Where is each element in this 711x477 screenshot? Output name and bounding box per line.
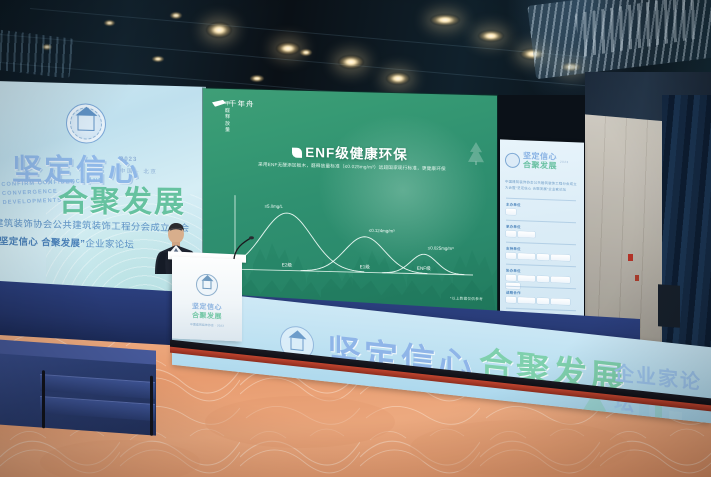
- rollup-divider: [506, 308, 576, 311]
- sponsor-logo: [518, 275, 535, 282]
- sponsor-logo: [537, 298, 549, 304]
- sponsor-logo: [518, 253, 535, 260]
- rollup-logo-row: [506, 231, 578, 240]
- boat-icon: [212, 100, 226, 107]
- microphone-icon: [232, 236, 254, 260]
- wall-fixture: [628, 254, 633, 261]
- rollup-divider: [506, 220, 576, 223]
- rollup-divider: [506, 264, 576, 267]
- screen-footnote-1: *以上数据仅供参考: [450, 296, 483, 302]
- rollup-sponsor-sections: 主办单位承办单位支持单位协办单位战略合作媒体支持: [500, 139, 584, 142]
- sponsor-logo: [551, 254, 570, 261]
- rollup-section: 主办单位: [506, 202, 578, 218]
- sponsor-logo: [551, 276, 570, 283]
- stage-steps: [40, 374, 155, 440]
- sponsor-logo: [506, 209, 516, 215]
- svg-text:≤5.0mg/L: ≤5.0mg/L: [265, 204, 284, 209]
- rollup-section: 支持单位: [506, 246, 578, 262]
- banner-year: 2023: [120, 156, 137, 162]
- rollup-title-line2: 合聚发展: [523, 160, 557, 170]
- svg-text:E1级: E1级: [360, 263, 371, 270]
- banner-title-line2: 合聚发展: [58, 176, 186, 221]
- banner-location: 中国 · 北京: [120, 166, 157, 175]
- sponsor-logo: [537, 254, 549, 260]
- rollup-section: 战略合作: [506, 290, 578, 306]
- sponsor-logo: [506, 231, 516, 237]
- sponsor-logo: [537, 276, 549, 282]
- ceiling-light: [152, 56, 164, 62]
- formaldehyde-curve-chart: ≤5.0mg/LE2级≤0.124mg/m³E1级≤0.025mg/m³ENF级: [227, 189, 477, 287]
- step-rail: [150, 376, 153, 436]
- rollup-year: 2023: [560, 160, 569, 164]
- cbda-emblem-icon: [505, 152, 520, 168]
- chart-y-axis-label: 甲醛释放量: [225, 101, 234, 134]
- wall-fixture: [635, 275, 639, 281]
- ceiling-light: [386, 72, 410, 85]
- floor-speaker: [658, 284, 680, 328]
- presentation-screen: 千年舟 ENF级健康环保 采用ENF无醛添加板木，醛释放量标准（≤0.025mg…: [203, 88, 497, 320]
- banner-subtitle-quote: “坚定信心 合聚发展”: [0, 235, 85, 249]
- rollup-section: 承办单位: [506, 224, 578, 240]
- stage-step: [40, 396, 155, 421]
- ceiling-light: [104, 20, 115, 26]
- ceiling-light: [276, 42, 300, 55]
- ceiling-light: [338, 55, 364, 69]
- svg-text:≤0.124mg/m³: ≤0.124mg/m³: [369, 228, 395, 234]
- rollup-header: 坚定信心 合聚发展 2023: [505, 151, 569, 171]
- rollup-logo-row: [506, 297, 578, 306]
- podium: 坚定信心 合聚发展 中国建筑装饰协会 · 2023: [172, 256, 242, 341]
- chart-svg: ≤5.0mg/LE2级≤0.124mg/m³E1级≤0.025mg/m³ENF级: [227, 189, 477, 287]
- rollup-divider: [506, 242, 576, 245]
- rollup-logo-row: [506, 253, 578, 262]
- sponsor-logo: [518, 231, 535, 238]
- svg-text:ENF级: ENF级: [417, 265, 431, 272]
- sponsor-logo: [506, 275, 516, 281]
- ceiling-light: [206, 22, 232, 38]
- ceiling-light: [170, 12, 182, 19]
- sponsor-logo: [551, 298, 570, 305]
- ceiling-light: [250, 75, 264, 82]
- svg-text:E2级: E2级: [282, 261, 293, 268]
- rollup-divider: [506, 198, 576, 201]
- sponsor-logo: [506, 253, 516, 259]
- ceiling-light: [300, 49, 312, 56]
- leaf-icon: [292, 148, 302, 158]
- podium-subtitle: 中国建筑装饰协会 · 2023: [190, 322, 224, 327]
- screen-title-text: ENF级健康环保: [305, 145, 408, 163]
- ceiling-light: [478, 30, 504, 42]
- sponsor-logo: [506, 297, 516, 303]
- curtain-right: [662, 95, 711, 380]
- ceiling-light: [430, 14, 460, 26]
- lighting-truss-left: [0, 29, 74, 78]
- cbda-emblem-icon: [196, 274, 218, 297]
- step-rail: [42, 370, 45, 428]
- conference-hall-photo: 坚定信心 2023 中国 · 北京 CONFIRM CONFIDENCE AND…: [0, 0, 711, 477]
- rollup-logo-row: [506, 275, 578, 292]
- banner-subtitle-rest: 企业家论坛: [85, 238, 134, 250]
- cbda-emblem-icon: [66, 103, 106, 144]
- sponsor-logo: [518, 297, 535, 304]
- rollup-subtitle: 中国建筑装饰协会公共建筑装饰工程分会成立大会暨“坚定信心 合聚发展”企业家论坛: [505, 180, 579, 194]
- rollup-logo-row: [506, 209, 578, 218]
- podium-title-line2: 合聚发展: [192, 310, 222, 321]
- svg-text:≤0.025mg/m³: ≤0.025mg/m³: [428, 245, 454, 251]
